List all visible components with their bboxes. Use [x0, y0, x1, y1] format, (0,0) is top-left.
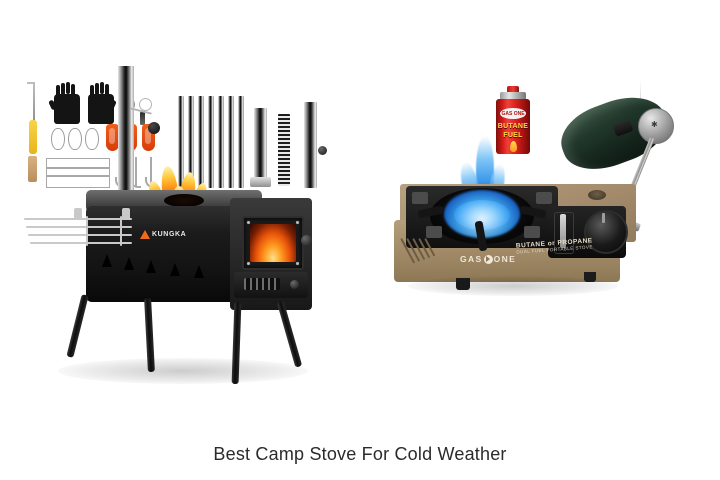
door-screw	[296, 262, 299, 265]
damper-knob-icon	[318, 146, 327, 155]
poker-hook-icon	[27, 82, 35, 84]
canister-label-butane: BUTANE	[496, 123, 530, 130]
carabiner-ring-icon	[51, 128, 65, 150]
air-vent-icon	[124, 257, 134, 270]
spark-arrestor-pipe	[278, 114, 290, 186]
canister-release-hole	[588, 190, 606, 200]
pan-support	[412, 192, 428, 204]
air-vent-icon	[170, 263, 180, 276]
tent-triangle-icon	[140, 230, 150, 239]
chimney-pipe-section	[218, 96, 224, 188]
door-screw	[247, 221, 250, 224]
side-shelf-rack	[24, 216, 134, 252]
canister-brand-text: GAS ONE	[501, 111, 524, 117]
ash-drawer-knob[interactable]	[290, 280, 299, 289]
brand-logo-gas-one: GAS ONE	[460, 254, 516, 264]
heat-glove-icon	[88, 94, 114, 124]
stove-leg	[66, 294, 88, 358]
fire-poker-rod	[33, 84, 35, 124]
stove-leg	[277, 300, 302, 367]
brand-name: KUNGKA	[152, 231, 186, 238]
carabiner-ring-icon	[68, 128, 82, 150]
chimney-base-flange	[250, 177, 271, 187]
tent-stake-icon	[135, 157, 137, 187]
brand-word-one: ONE	[494, 254, 517, 264]
butane-canister: GAS ONE BUTANE FUEL	[496, 86, 530, 154]
brand-word-gas: GAS	[460, 254, 483, 264]
poker-yellow-handle	[29, 120, 37, 154]
chimney-base-pipe	[254, 108, 267, 180]
damper-pipe	[304, 102, 317, 188]
image-caption: Best Camp Stove For Cold Weather	[0, 444, 720, 465]
product-image-gas-one-stove: ✱ GAS ONE BUTANE FUEL	[388, 80, 700, 330]
propane-regulator: ✱	[638, 108, 674, 144]
heat-glove-icon	[54, 94, 80, 124]
canister-flame-icon	[510, 141, 517, 152]
warming-rack-icon	[46, 158, 110, 188]
pan-support	[524, 226, 540, 238]
product-shadow	[58, 358, 308, 384]
pan-support	[426, 226, 442, 238]
gas-one-mark-icon	[484, 255, 493, 264]
chimney-damper-ball	[148, 122, 160, 134]
door-glass-with-fire	[250, 224, 296, 262]
brand-logo-kungka: KUNGKA	[140, 230, 186, 239]
dial-pointer	[602, 213, 605, 223]
rack-bracket	[122, 208, 130, 220]
regulator-star-icon: ✱	[651, 121, 658, 129]
product-comparison-image: KUNGKA ✱	[0, 0, 720, 480]
ash-drawer-vents	[244, 278, 280, 290]
carabiner-ring-icon	[85, 128, 99, 150]
door-handle-knob[interactable]	[301, 235, 312, 246]
pan-support	[536, 192, 552, 204]
air-vent-icon	[102, 254, 112, 267]
air-vent-icon	[194, 265, 204, 278]
product-image-wood-tent-stove: KUNGKA	[18, 58, 348, 378]
installed-chimney	[118, 66, 134, 194]
product-shadow	[408, 276, 618, 296]
door-screw	[296, 221, 299, 224]
air-vent-icon	[146, 260, 156, 273]
canister-label-fuel: FUEL	[496, 132, 530, 139]
wood-handle-icon	[28, 156, 37, 182]
chimney-pipe-section	[238, 96, 244, 188]
stove-door[interactable]	[242, 216, 304, 270]
chimney-pipe-section	[228, 96, 234, 188]
door-screw	[247, 262, 250, 265]
canister-brand-oval: GAS ONE	[500, 108, 526, 119]
canister-body: GAS ONE BUTANE FUEL	[496, 99, 530, 154]
rack-bracket	[74, 208, 82, 220]
side-vent-slats	[402, 238, 436, 264]
